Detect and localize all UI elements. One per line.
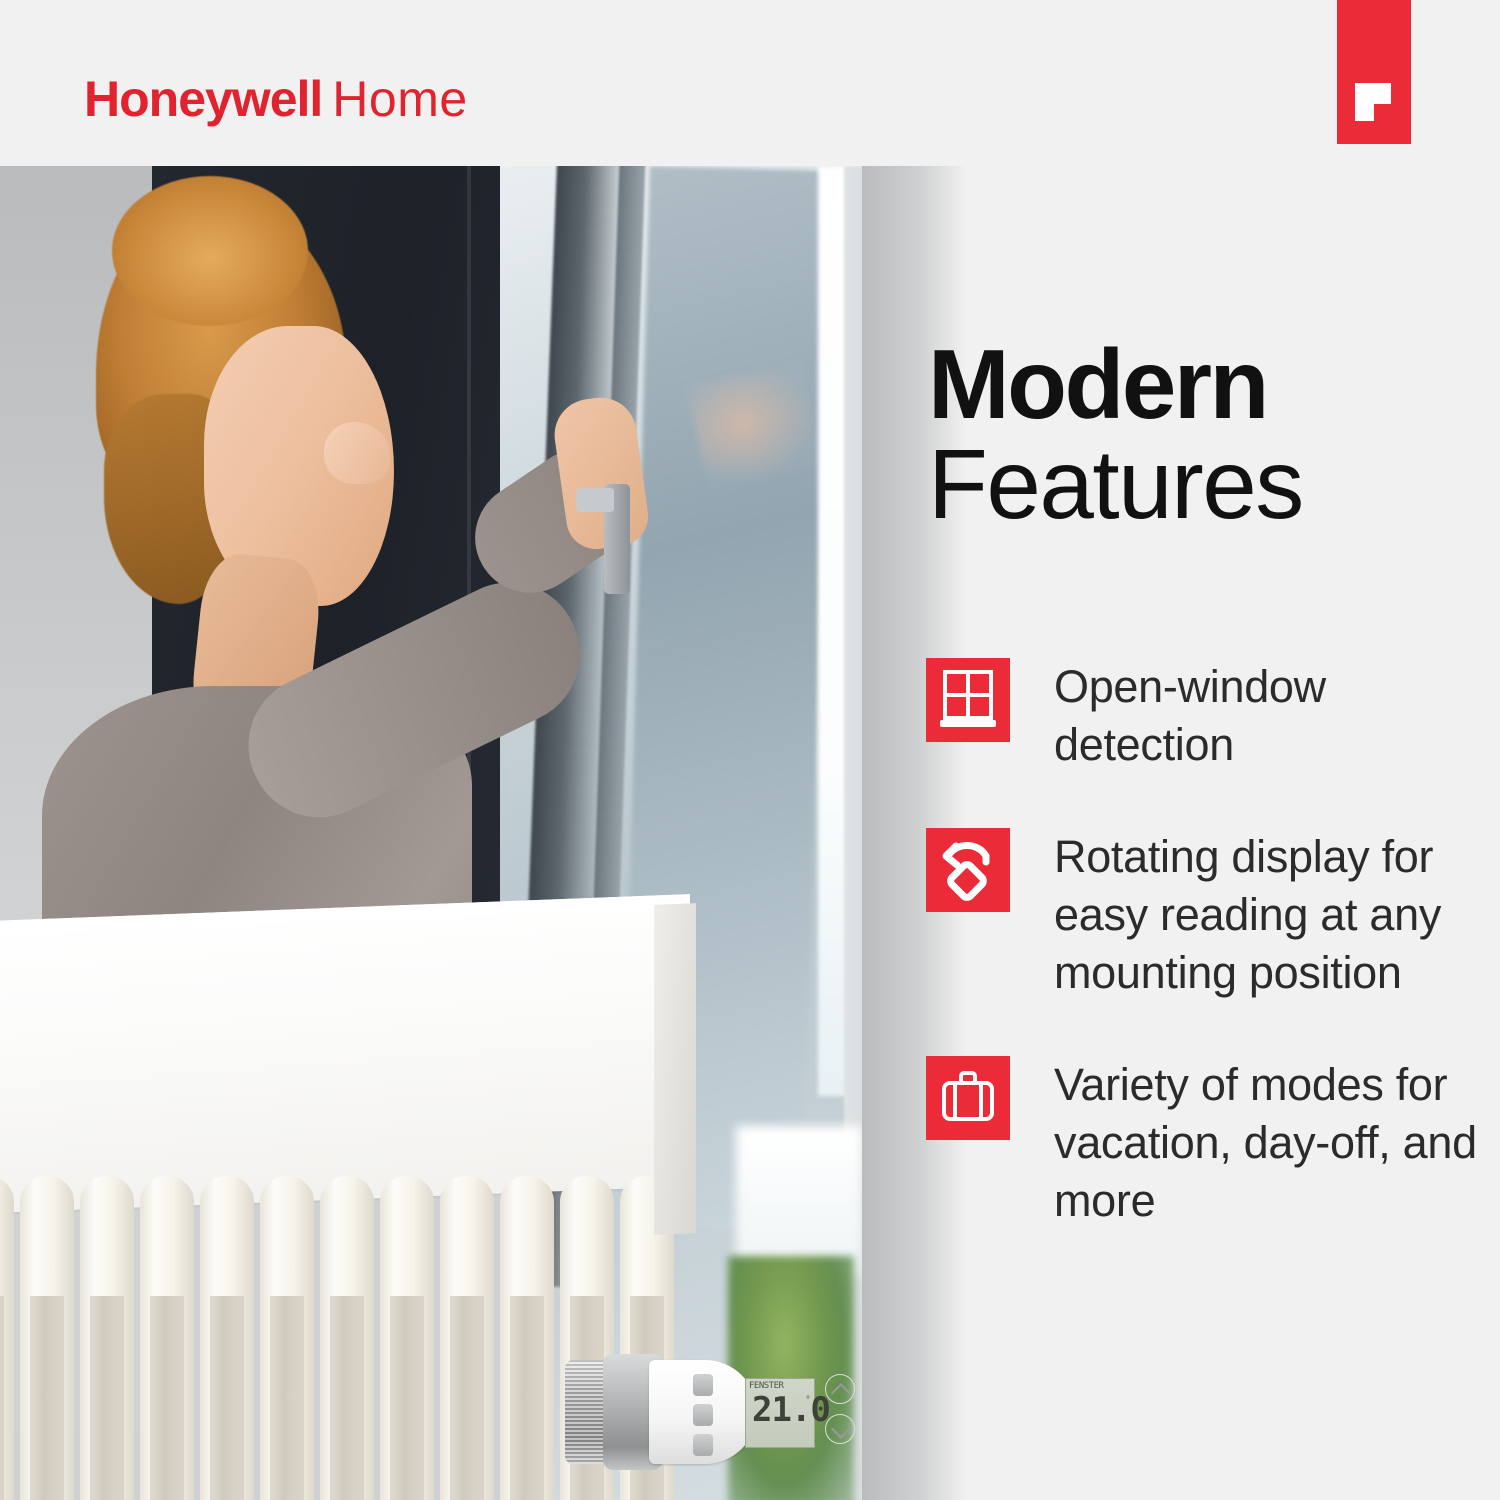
radiator-fin	[80, 1176, 134, 1500]
flag-glyph-top	[1355, 83, 1391, 104]
resideo-flag-icon	[1337, 0, 1411, 144]
chevron-down-icon[interactable]	[825, 1414, 855, 1444]
radiator-fin	[140, 1176, 194, 1500]
thermostatic-radiator-valve: FENSTER 21.0 °	[565, 1358, 755, 1466]
clock-button[interactable]	[693, 1434, 713, 1456]
window-handle	[604, 484, 630, 594]
page-header: HoneywellHome	[0, 0, 1500, 166]
flag-glyph-bottom	[1355, 104, 1374, 121]
headline-line-2: Features	[928, 436, 1488, 532]
radiator-fin	[320, 1176, 374, 1500]
radiator-fin	[380, 1176, 434, 1500]
headline-line-1: Modern	[928, 336, 1488, 432]
list-item: Open-window detection	[926, 658, 1486, 774]
list-item: Rotating display for easy reading at any…	[926, 828, 1486, 1002]
radiator-fin	[200, 1176, 254, 1500]
valve-button-group[interactable]	[693, 1374, 713, 1466]
menu-button[interactable]	[693, 1404, 713, 1426]
list-item-label: Variety of modes for vacation, day-off, …	[1054, 1056, 1486, 1230]
radiator-fin	[0, 1176, 14, 1500]
lifestyle-photo: FENSTER 21.0 °	[0, 166, 862, 1500]
home-button[interactable]	[693, 1374, 713, 1396]
honeywell-home-logo: HoneywellHome	[84, 70, 468, 128]
window-icon	[926, 658, 1010, 742]
features-panel: Modern Features Open-window detection	[862, 166, 1500, 1500]
suitcase-icon	[926, 1056, 1010, 1140]
radiator-fin	[20, 1176, 74, 1500]
radiator-end-panel	[654, 903, 696, 1235]
rotate-display-icon	[926, 828, 1010, 912]
list-item-label: Open-window detection	[1054, 658, 1486, 774]
radiator-fin	[440, 1176, 494, 1500]
list-item: Variety of modes for vacation, day-off, …	[926, 1056, 1486, 1230]
valve-arrow-buttons[interactable]	[825, 1374, 859, 1454]
list-item-label: Rotating display for easy reading at any…	[1054, 828, 1486, 1002]
page-title: Modern Features	[928, 336, 1488, 532]
sky-glow	[736, 1126, 862, 1276]
logo-honeywell-text: Honeywell	[84, 71, 322, 127]
valve-lcd-display: FENSTER 21.0 °	[745, 1378, 815, 1448]
logo-home-text: Home	[332, 71, 467, 127]
valve-body: FENSTER 21.0 °	[649, 1360, 757, 1464]
lcd-temperature-value: 21.0	[752, 1393, 830, 1427]
chevron-up-icon[interactable]	[825, 1374, 855, 1404]
radiator-fin	[500, 1176, 554, 1500]
radiator-fin	[260, 1176, 314, 1500]
lcd-degree-symbol: °	[806, 1395, 810, 1406]
feature-list: Open-window detection Rotating display f…	[926, 658, 1486, 1284]
flag-glyph	[1355, 83, 1391, 121]
radiator-top	[0, 894, 690, 1214]
